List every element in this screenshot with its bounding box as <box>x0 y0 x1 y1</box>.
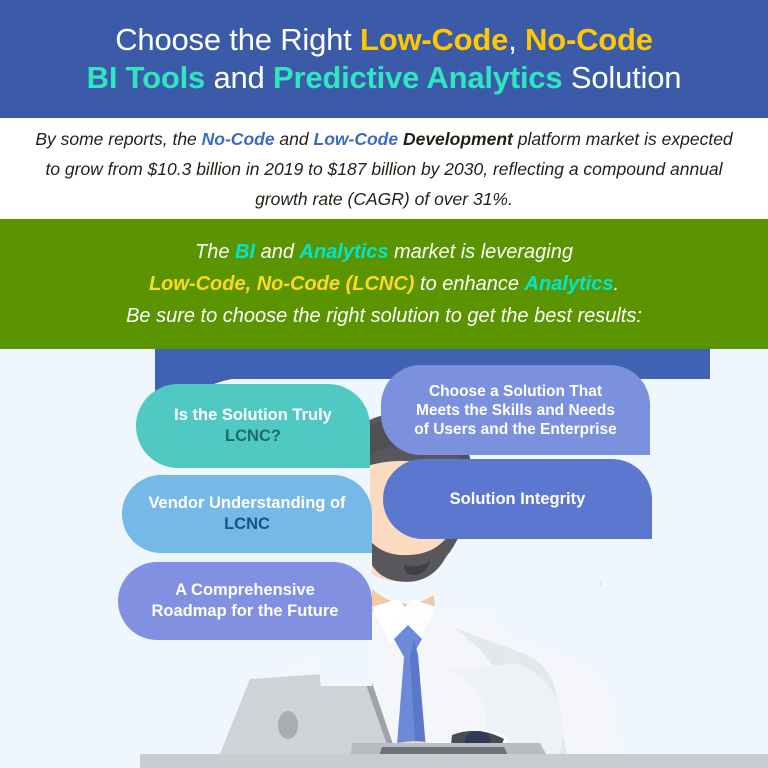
bubble-choose-a-solution[interactable]: Choose a Solution That Meets the Skills … <box>381 365 650 455</box>
bubble-truly-line1: Is the Solution Truly <box>174 405 332 426</box>
subtitle-banner: By some reports, the No-Code and Low-Cod… <box>0 118 768 219</box>
green-text-and: and <box>255 241 299 263</box>
bubble-comprehensive-roadmap[interactable]: A Comprehensive Roadmap for the Future <box>118 562 372 640</box>
subtitle-paragraph: By some reports, the No-Code and Low-Cod… <box>28 124 740 214</box>
bubble-choose-text: Choose a Solution That Meets the Skills … <box>414 382 616 439</box>
title-comma: , <box>508 22 525 57</box>
bubble-choose-line1: Choose a Solution That <box>414 382 616 401</box>
bubble-truly-line2: LCNC? <box>174 426 332 447</box>
green-text-market: market is leveraging <box>388 241 573 263</box>
header-banner: Choose the Right Low-Code, No-Code BI To… <box>0 0 768 118</box>
green-line-2: Low-Code, No-Code (LCNC) to enhance Anal… <box>24 268 744 300</box>
bubble-choose-line3: of Users and the Enterprise <box>414 420 616 439</box>
title-keyword-bi-tools: BI Tools <box>87 60 205 95</box>
title-text-and: and <box>205 60 273 95</box>
bubble-roadmap-line1: A Comprehensive <box>151 580 338 601</box>
title-keyword-predictive-analytics: Predictive Analytics <box>273 60 563 95</box>
subtitle-keyword-development: Development <box>403 129 513 149</box>
bubble-roadmap-line2: Roadmap for the Future <box>151 601 338 622</box>
title-text-solution: Solution <box>562 60 681 95</box>
green-keyword-lcnc: Low-Code, No-Code (LCNC) <box>149 273 415 295</box>
green-keyword-analytics-2: Analytics <box>525 273 614 295</box>
green-text-be-sure: Be sure to choose the right solution to … <box>126 305 642 327</box>
laptop-logo <box>278 711 298 739</box>
green-keyword-analytics-1: Analytics <box>300 241 389 263</box>
title-keyword-no-code: No-Code <box>525 22 653 57</box>
title-keyword-low-code: Low-Code <box>360 22 508 57</box>
green-line-3: Be sure to choose the right solution to … <box>24 300 744 332</box>
green-text-the: The <box>195 241 235 263</box>
green-text-enhance: to enhance <box>414 273 524 295</box>
bubble-integrity-tail <box>600 539 652 585</box>
bubble-vendor-line2: LCNC <box>148 514 345 535</box>
bubble-vendor-understanding[interactable]: Vendor Understanding of LCNC <box>122 475 372 553</box>
bubble-integrity-line1: Solution Integrity <box>450 489 586 510</box>
bubble-solution-integrity[interactable]: Solution Integrity <box>383 459 652 539</box>
desk-surface <box>140 754 768 768</box>
green-statement-text: The BI and Analytics market is leveragin… <box>24 236 744 332</box>
title-line-1: Choose the Right Low-Code, No-Code <box>14 21 754 59</box>
infographic-poster: Choose the Right Low-Code, No-Code BI To… <box>0 0 768 768</box>
subtitle-keyword-no-code: No-Code <box>202 129 275 149</box>
green-statement-banner: The BI and Analytics market is leveragin… <box>0 219 768 349</box>
bubble-truly-text: Is the Solution Truly LCNC? <box>174 405 332 447</box>
bubble-is-solution-truly-lcnc[interactable]: Is the Solution Truly LCNC? <box>136 384 370 468</box>
title-text-choose-the-right: Choose the Right <box>115 22 360 57</box>
bubble-choose-line2: Meets the Skills and Needs <box>414 401 616 420</box>
title-line-2: BI Tools and Predictive Analytics Soluti… <box>14 59 754 97</box>
green-keyword-bi: BI <box>235 241 255 263</box>
subtitle-keyword-low-code: Low-Code <box>314 129 399 149</box>
bubble-roadmap-text: A Comprehensive Roadmap for the Future <box>151 580 338 622</box>
header-title-block: Choose the Right Low-Code, No-Code BI To… <box>14 21 754 97</box>
bubble-vendor-line1: Vendor Understanding of <box>148 493 345 514</box>
bubble-roadmap-tail <box>320 640 372 686</box>
green-line-1: The BI and Analytics market is leveragin… <box>24 236 744 268</box>
green-text-period: . <box>613 273 619 295</box>
bubble-vendor-text: Vendor Understanding of LCNC <box>148 493 345 535</box>
subtitle-text-a: By some reports, the <box>35 129 201 149</box>
subtitle-text-and: and <box>275 129 314 149</box>
bubbles-and-illustration-stage: Choose a Solution That Meets the Skills … <box>0 349 768 768</box>
